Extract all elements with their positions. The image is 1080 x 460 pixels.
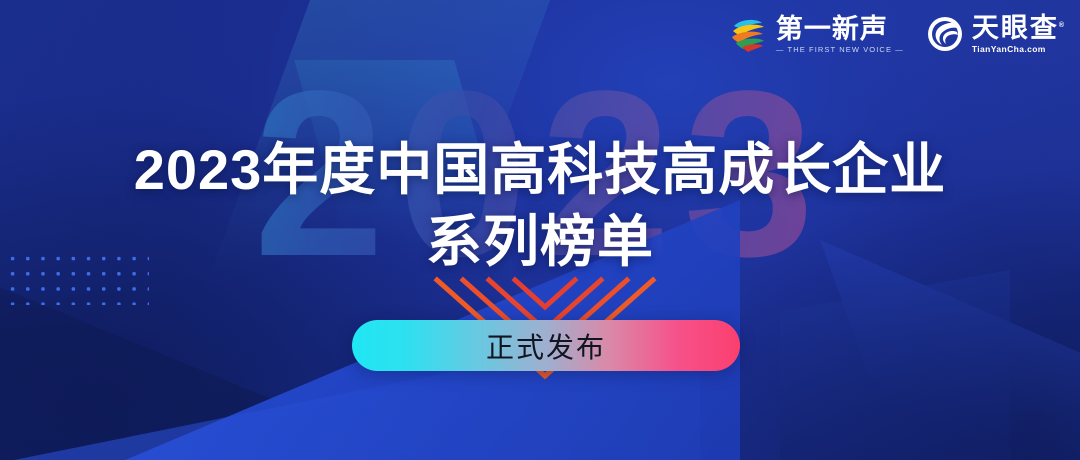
title-line-1: 2023年度中国高科技高成长企业	[0, 134, 1080, 206]
logo-first-new-voice-en: — THE FIRST NEW VOICE —	[776, 45, 904, 54]
logo-bar: 第一新声 — THE FIRST NEW VOICE — 天眼查® TianYa…	[728, 14, 1066, 55]
logo-tianyancha-cn-text: 天眼查	[972, 13, 1059, 43]
title-block: 2023年度中国高科技高成长企业 系列榜单	[0, 134, 1080, 278]
aperture-eye-icon	[926, 15, 964, 53]
release-button[interactable]: 正式发布	[352, 320, 740, 371]
promo-banner: 2023 2023年度中国高科技高成长企业 系列榜单 正式发布	[0, 0, 1080, 460]
logo-tianyancha-en: TianYanCha.com	[972, 44, 1066, 54]
logo-first-new-voice[interactable]: 第一新声 — THE FIRST NEW VOICE —	[728, 15, 904, 54]
logo-tianyancha[interactable]: 天眼查® TianYanCha.com	[926, 14, 1066, 55]
logo-tianyancha-trademark: ®	[1059, 22, 1066, 29]
logo-tianyancha-text: 天眼查® TianYanCha.com	[972, 14, 1066, 55]
swirl-icon	[728, 15, 768, 53]
logo-first-new-voice-cn: 第一新声	[776, 15, 904, 43]
release-button-label: 正式发布	[486, 326, 606, 366]
title-line-2: 系列榜单	[0, 206, 1080, 278]
logo-tianyancha-cn: 天眼查®	[972, 14, 1066, 42]
logo-first-new-voice-text: 第一新声 — THE FIRST NEW VOICE —	[776, 15, 904, 54]
